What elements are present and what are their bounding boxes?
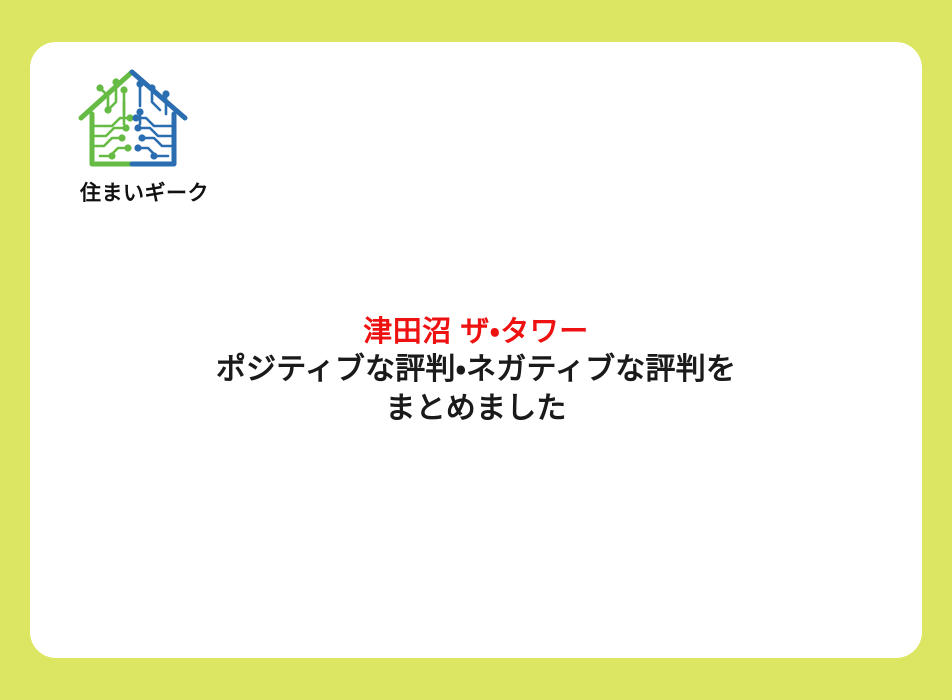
circuit-house-icon	[78, 68, 188, 170]
headline-property-name: 津田沼 ザ・タワー	[70, 314, 882, 351]
headline-block: 津田沼 ザ・タワー ポジティブな評判・ネガティブな評判を まとめました	[30, 314, 922, 428]
content-card: 住まいギーク 津田沼 ザ・タワー ポジティブな評判・ネガティブな評判を まとめま…	[30, 42, 922, 658]
headline-line-2: まとめました	[70, 390, 882, 428]
brand-block: 住まいギーク	[58, 68, 268, 205]
brand-name: 住まいギーク	[80, 182, 268, 205]
headline-line-1: ポジティブな評判・ネガティブな評判を	[70, 351, 882, 389]
